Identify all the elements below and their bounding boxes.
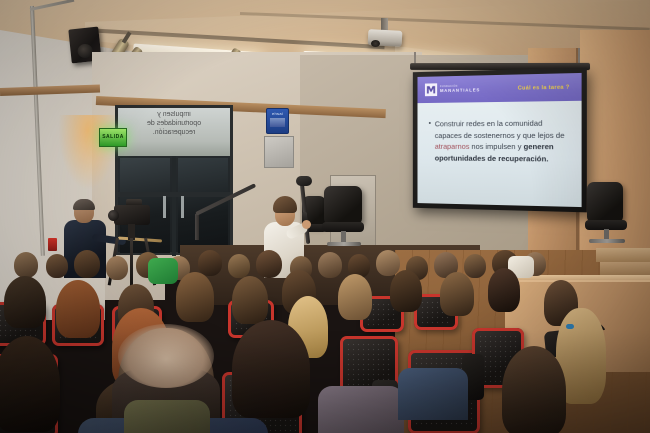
projector-lens-icon <box>371 40 380 47</box>
logo-line-2: MANANTIALES <box>440 88 480 93</box>
door-handle-right[interactable] <box>181 196 184 218</box>
hair-tie-icon <box>566 324 574 329</box>
audience-head-foreground <box>0 336 60 432</box>
audience-denim-jacket <box>398 368 468 420</box>
audience-head <box>256 250 282 278</box>
slide-reflection-text: impulsen y oportunidades de recuperación… <box>120 110 228 137</box>
audience-head <box>74 250 100 278</box>
slide-bullet-text: Construir redes en la comunidad capaces … <box>435 117 571 164</box>
audience-head <box>46 254 68 278</box>
door-transom-glass: impulsen y oportunidades de recuperación… <box>118 108 230 156</box>
blue-device-label: ehsal <box>267 111 288 116</box>
door-handle-left[interactable] <box>163 196 166 218</box>
slide-text-segment-2: nos impulsen y <box>469 142 523 151</box>
manantiales-logo: FUNDACIÓN MANANTIALES <box>425 82 480 96</box>
screen-hanger-right <box>578 48 580 64</box>
audience-head <box>318 252 342 278</box>
microphone-stand-head <box>296 176 312 186</box>
audience-olive-jacket <box>124 400 210 433</box>
slide-text-segment-1: Construir redes en la comunidad capaces … <box>435 119 565 140</box>
slide-bullet-item: • Construir redes en la comunidad capace… <box>429 117 571 164</box>
wall-light-glow <box>58 115 118 190</box>
door-push-rail[interactable] <box>118 192 230 197</box>
bullet-icon: • <box>429 119 431 164</box>
audience-head <box>56 280 100 338</box>
audience-head <box>232 276 268 324</box>
audience-head-foreground <box>502 346 566 433</box>
logo-m-icon <box>425 83 437 96</box>
exit-sign: SALIDA <box>99 128 127 147</box>
audience-head <box>198 250 222 276</box>
wall-mounted-blue-device[interactable]: ehsal <box>266 108 289 134</box>
audience-head <box>4 276 46 328</box>
audience-head <box>338 274 372 320</box>
audience-head <box>14 252 38 278</box>
projected-slide: FUNDACIÓN MANANTIALES Cuál es la tarea ?… <box>417 73 581 207</box>
audience-head <box>176 272 214 322</box>
wall-control-panel[interactable] <box>264 136 294 168</box>
office-chair-right[interactable] <box>585 182 629 248</box>
audience-green-shirt <box>148 258 178 284</box>
audience-head <box>106 256 128 280</box>
door-mullion <box>172 156 176 256</box>
auditorium-photo: impulsen y oportunidades de recuperación… <box>0 0 650 433</box>
exit-sign-label: SALIDA <box>100 129 126 146</box>
handrail-post <box>195 214 199 240</box>
office-chair-stage[interactable] <box>322 186 366 252</box>
door-glass-right <box>178 158 228 253</box>
audience-head <box>228 254 250 278</box>
audience-mauve-top <box>318 386 404 433</box>
slide-header-band: FUNDACIÓN MANANTIALES Cuál es la tarea ? <box>417 73 581 103</box>
slide-text-highlight-red: atraparnos <box>435 142 470 151</box>
audience-head-foreground <box>232 320 310 418</box>
audience-head <box>376 250 400 276</box>
slide-title: Cuál es la tarea ? <box>518 84 570 91</box>
audience-head <box>488 268 520 312</box>
audience-seating-area <box>0 250 650 433</box>
audience-head <box>390 270 422 312</box>
audience-head <box>464 254 486 278</box>
projection-screen: FUNDACIÓN MANANTIALES Cuál es la tarea ?… <box>413 68 587 213</box>
audience-head <box>440 272 474 316</box>
slide-body: • Construir redes en la comunidad capace… <box>417 101 581 207</box>
logo-wordmark: FUNDACIÓN MANANTIALES <box>440 85 480 93</box>
audience-scalp <box>118 324 214 388</box>
